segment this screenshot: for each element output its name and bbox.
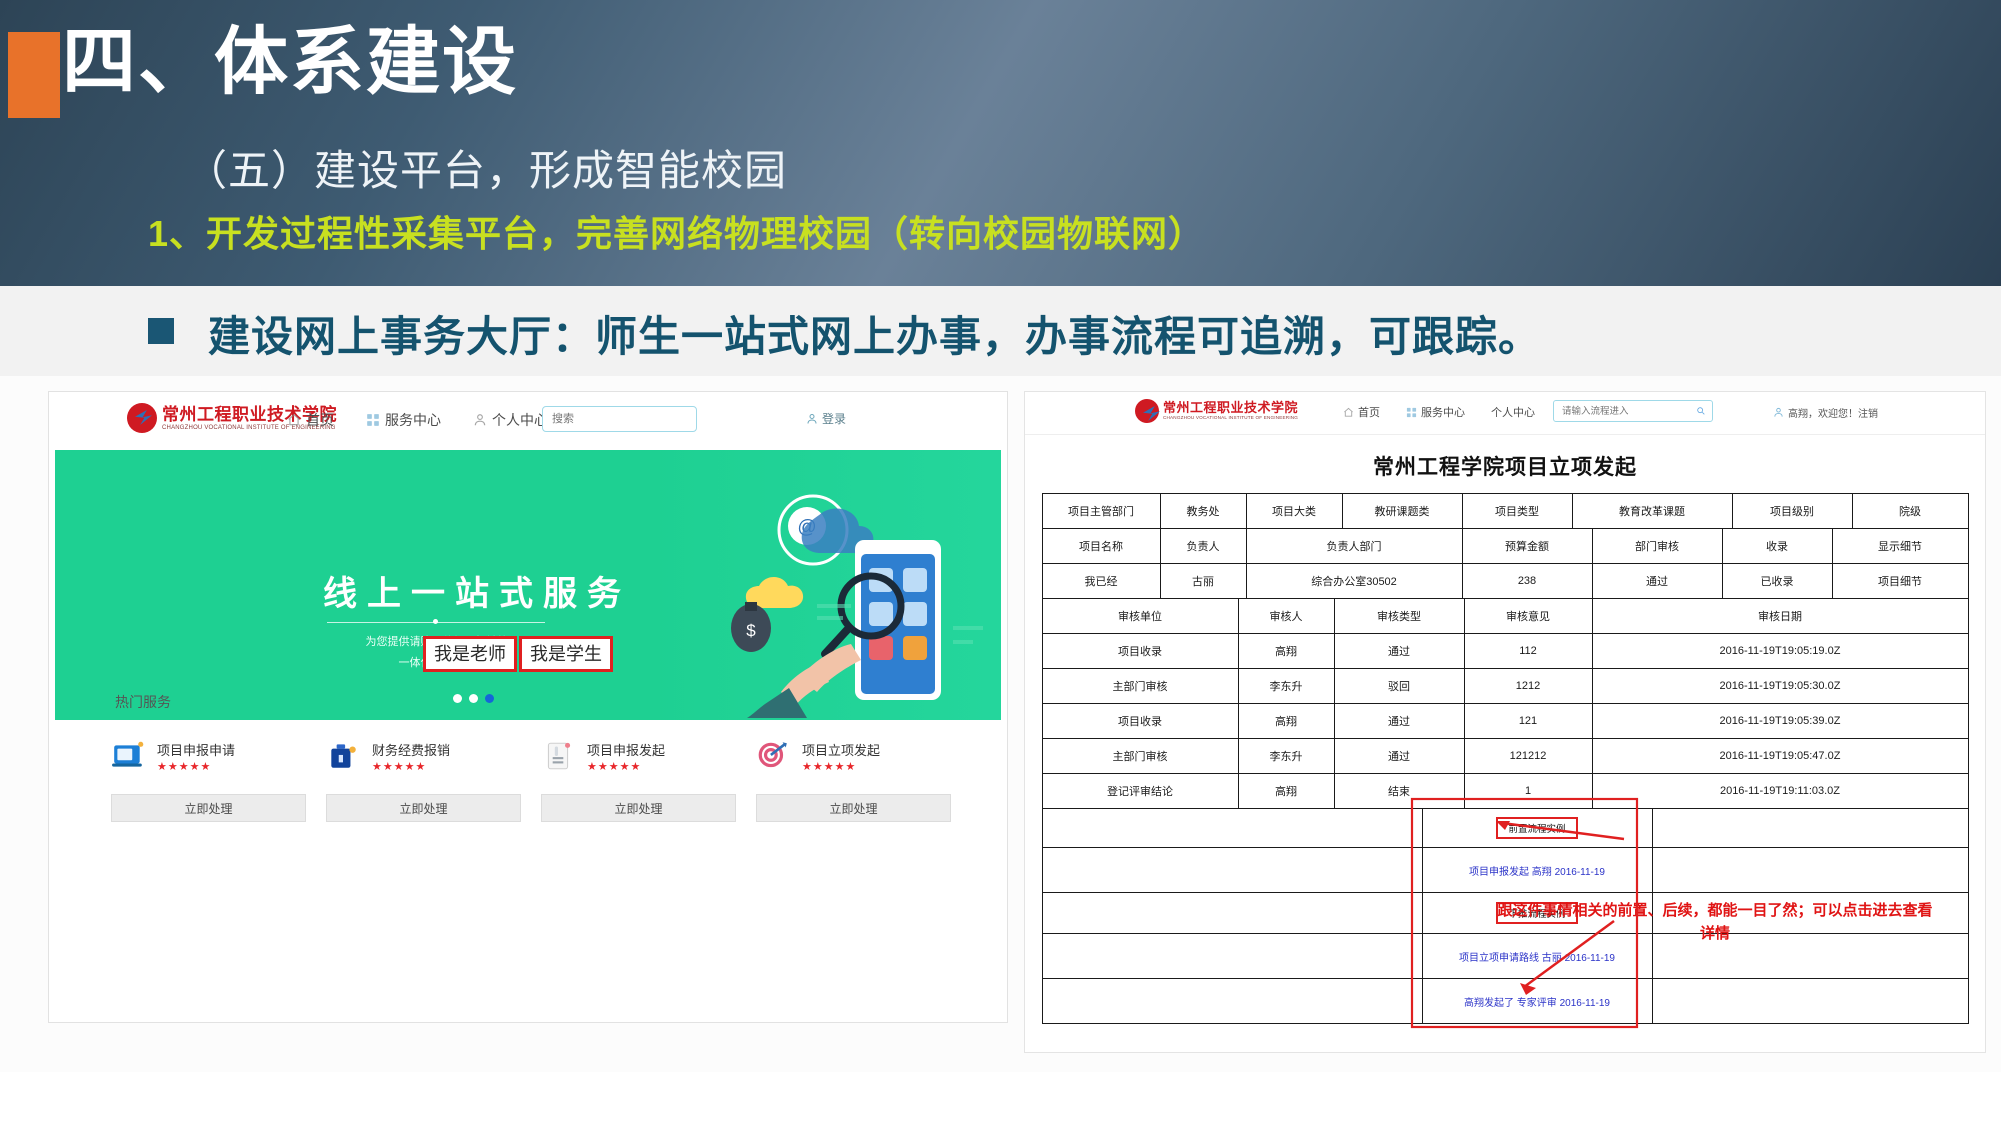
table-row: 审核单位 审核人 审核类型 审核意见 审核日期	[1042, 599, 1968, 634]
i-am-student-button[interactable]: 我是学生	[519, 636, 613, 672]
school-logo-icon	[1135, 399, 1159, 423]
detail-header: 项目名称	[1042, 529, 1160, 564]
next-process-link-2[interactable]: 高翔发起了 专家评审 2016-11-19	[1464, 998, 1610, 1009]
detail-header: 部门审核	[1592, 529, 1722, 564]
nav-item-personal-center[interactable]: 个人中心	[473, 410, 548, 430]
prev-process-cell: 前置流程实例	[1422, 809, 1652, 848]
audit-cell: 高翔	[1238, 704, 1334, 739]
service-rating: ★★★★★	[157, 762, 235, 773]
handle-now-button[interactable]: 立即处理	[326, 794, 521, 822]
hot-services-list: 项目申报申请 ★★★★★ 立即处理 财务经费报销 ★★	[101, 732, 961, 822]
detail-header: 负责人	[1160, 529, 1246, 564]
meta-cell: 教务处	[1160, 494, 1246, 529]
project-meta-table: 项目主管部门 教务处 项目大类 教研课题类 项目类型 教育改革课题 项目级别 院…	[1042, 493, 1969, 529]
briefcase-icon	[326, 739, 360, 773]
service-name: 项目立项发起	[802, 740, 880, 759]
nav-label: 服务中心	[1421, 404, 1465, 420]
user-icon	[1773, 407, 1784, 418]
grid-icon	[366, 413, 380, 427]
audit-cell: 主部门审核	[1042, 739, 1238, 774]
user-icon	[473, 413, 487, 427]
detail-header: 预算金额	[1462, 529, 1592, 564]
table-row: 项目收录 高翔 通过 112 2016-11-19T19:05:19.0Z	[1042, 634, 1968, 669]
audit-cell: 2016-11-19T19:11:03.0Z	[1592, 774, 1968, 809]
table-row: 项目名称 负责人 负责人部门 预算金额 部门审核 收录 显示细节	[1042, 529, 1968, 564]
audit-cell: 2016-11-19T19:05:47.0Z	[1592, 739, 1968, 774]
nav-label: 首页	[306, 410, 334, 430]
form-logo: 常州工程职业技术学院 CHANGZHOU VOCATIONAL INSTITUT…	[1135, 399, 1298, 423]
table-row: 我已经 古丽 综合办公室30502 238 通过 已收录 项目细节	[1042, 564, 1968, 599]
detail-value: 通过	[1592, 564, 1722, 599]
form-search-box[interactable]	[1553, 400, 1713, 422]
user-label: 高翔，欢迎您！注销	[1788, 405, 1878, 420]
login-label: 登录	[822, 410, 846, 427]
home-icon	[1343, 407, 1354, 418]
nav-item-service-center[interactable]: 服务中心	[1406, 404, 1465, 420]
meta-cell: 教研课题类	[1342, 494, 1462, 529]
slide: 四、体系建设 （五）建设平台，形成智能校园 1、开发过程性采集平台，完善网络物理…	[0, 0, 2001, 1126]
table-row: 高翔发起了 专家评审 2016-11-19	[1042, 979, 1968, 1024]
audit-cell: 2016-11-19T19:05:39.0Z	[1592, 704, 1968, 739]
hero-title: 线上一站式服务	[323, 566, 631, 615]
table-row: 项目主管部门 教务处 项目大类 教研课题类 项目类型 教育改革课题 项目级别 院…	[1042, 494, 1968, 529]
audit-cell: 项目收录	[1042, 634, 1238, 669]
logo-english-name: CHANGZHOU VOCATIONAL INSTITUTE OF ENGINE…	[1163, 416, 1298, 421]
nav-label: 个人中心	[492, 410, 548, 430]
next-process-link-cell[interactable]: 高翔发起了 专家评审 2016-11-19	[1422, 979, 1652, 1024]
table-row: 项目收录 高翔 通过 121 2016-11-19T19:05:39.0Z	[1042, 704, 1968, 739]
nav-item-service-center[interactable]: 服务中心	[366, 410, 441, 430]
table-row: 登记评审结论 高翔 结束 1 2016-11-19T19:11:03.0Z	[1042, 774, 1968, 809]
svg-text:$: $	[746, 621, 756, 640]
nav-item-personal-center[interactable]: 个人中心	[1491, 404, 1535, 420]
hero-carousel-dots[interactable]	[453, 694, 494, 703]
grid-icon	[1406, 407, 1417, 418]
nav-label: 个人中心	[1491, 404, 1535, 420]
audit-cell: 1212	[1464, 669, 1592, 704]
table-row: 前置流程实例	[1042, 809, 1968, 848]
process-search-input[interactable]	[1560, 405, 1696, 418]
service-card[interactable]: 财务经费报销 ★★★★★ 立即处理	[316, 732, 531, 822]
audit-header: 审核日期	[1592, 599, 1968, 634]
table-row: 主部门审核 李东升 通过 121212 2016-11-19T19:05:47.…	[1042, 739, 1968, 774]
detail-value: 我已经	[1042, 564, 1160, 599]
audit-table: 审核单位 审核人 审核类型 审核意见 审核日期 项目收录 高翔 通过 112 2…	[1042, 598, 1969, 809]
detail-header: 收录	[1722, 529, 1832, 564]
service-rating: ★★★★★	[587, 762, 665, 773]
portal-screenshot: 常州工程职业技术学院 CHANGZHOU VOCATIONAL INSTITUT…	[48, 391, 1008, 1023]
page-title: 四、体系建设	[62, 18, 518, 105]
service-card[interactable]: 项目申报申请 ★★★★★ 立即处理	[101, 732, 316, 822]
audit-cell: 通过	[1334, 704, 1464, 739]
section-subtitle: （五）建设平台，形成智能校园	[185, 137, 787, 198]
audit-cell: 通过	[1334, 634, 1464, 669]
audit-cell: 高翔	[1238, 774, 1334, 809]
carousel-dot-2[interactable]	[469, 694, 478, 703]
school-logo-icon	[127, 403, 157, 433]
handle-now-button[interactable]: 立即处理	[541, 794, 736, 822]
meta-cell: 项目大类	[1246, 494, 1342, 529]
search-icon[interactable]	[1696, 405, 1706, 417]
audit-cell: 高翔	[1238, 634, 1334, 669]
portal-navbar: 常州工程职业技术学院 CHANGZHOU VOCATIONAL INSTITUT…	[49, 392, 1007, 450]
audit-header: 审核人	[1238, 599, 1334, 634]
laptop-icon	[111, 739, 145, 773]
service-rating: ★★★★★	[802, 762, 880, 773]
audit-cell: 112	[1464, 634, 1592, 669]
accent-bar	[8, 32, 60, 118]
nav-label: 服务中心	[385, 410, 441, 430]
audit-cell: 2016-11-19T19:05:19.0Z	[1592, 634, 1968, 669]
audit-cell: 通过	[1334, 739, 1464, 774]
service-name: 财务经费报销	[372, 740, 450, 759]
bullet-square-icon	[148, 318, 174, 344]
annotation-text: 跟这件事情相关的前置、后续，都能一目了然；可以点击进去查看详情	[1495, 900, 1935, 945]
audit-cell: 结束	[1334, 774, 1464, 809]
detail-value: 已收录	[1722, 564, 1832, 599]
search-input[interactable]	[550, 412, 696, 426]
section-subtitle-highlight: 1、开发过程性采集平台，完善网络物理校园（转向校园物联网）	[148, 205, 1205, 257]
project-form-screenshot: 常州工程职业技术学院 CHANGZHOU VOCATIONAL INSTITUT…	[1024, 391, 1986, 1053]
hero-divider-dot-icon	[433, 619, 438, 624]
next-process-link-1[interactable]: 项目立项申请路线 古丽 2016-11-19	[1459, 953, 1615, 964]
audit-cell: 121212	[1464, 739, 1592, 774]
user-account-info[interactable]: 高翔，欢迎您！注销	[1773, 405, 1878, 420]
meta-cell: 项目级别	[1732, 494, 1852, 529]
meta-cell: 教育改革课题	[1572, 494, 1732, 529]
slide-header: 四、体系建设 （五）建设平台，形成智能校园 1、开发过程性采集平台，完善网络物理…	[0, 0, 2001, 286]
service-name: 项目申报申请	[157, 740, 235, 759]
form-navbar: 常州工程职业技术学院 CHANGZHOU VOCATIONAL INSTITUT…	[1025, 392, 1985, 435]
audit-cell: 驳回	[1334, 669, 1464, 704]
login-button[interactable]: 登录	[806, 410, 846, 427]
i-am-teacher-button[interactable]: 我是老师	[423, 636, 517, 672]
detail-value: 古丽	[1160, 564, 1246, 599]
form-menu: 首页 服务中心 个人中心	[1343, 404, 1535, 420]
audit-cell: 李东升	[1238, 669, 1334, 704]
project-detail-link[interactable]: 项目细节	[1832, 564, 1968, 599]
prev-process-link-cell[interactable]: 项目申报发起 高翔 2016-11-19	[1422, 848, 1652, 893]
service-name: 项目申报发起	[587, 740, 665, 759]
service-rating: ★★★★★	[372, 762, 450, 773]
role-selection: 我是老师 我是学生	[423, 636, 613, 672]
carousel-dot-1[interactable]	[453, 694, 462, 703]
table-row: 主部门审核 李东升 驳回 1212 2016-11-19T19:05:30.0Z	[1042, 669, 1968, 704]
audit-header: 审核意见	[1464, 599, 1592, 634]
prev-process-label: 前置流程实例	[1496, 817, 1577, 839]
detail-value: 综合办公室30502	[1246, 564, 1462, 599]
carousel-dot-3[interactable]	[485, 694, 494, 703]
audit-cell: 121	[1464, 704, 1592, 739]
meta-cell: 项目主管部门	[1042, 494, 1160, 529]
document-icon	[541, 739, 575, 773]
handle-now-button[interactable]: 立即处理	[756, 794, 951, 822]
handle-now-button[interactable]: 立即处理	[111, 794, 306, 822]
portal-search-box[interactable]	[542, 406, 697, 432]
form-title: 常州工程学院项目立项发起	[1025, 451, 1985, 481]
audit-cell: 主部门审核	[1042, 669, 1238, 704]
target-icon	[756, 739, 790, 773]
service-card[interactable]: 项目申报发起 ★★★★★ 立即处理	[531, 732, 746, 822]
prev-process-link[interactable]: 项目申报发起 高翔 2016-11-19	[1469, 867, 1605, 878]
audit-cell: 1	[1464, 774, 1592, 809]
nav-item-home[interactable]: 首页	[287, 410, 334, 430]
portal-menu: 首页 服务中心 个人中心	[287, 410, 548, 430]
portal-hero-banner: 线上一站式服务 为您提供请购、休假、报销等 一体化线上服务 @ $	[55, 450, 1001, 720]
service-card[interactable]: 项目立项发起 ★★★★★ 立即处理	[746, 732, 961, 822]
meta-cell: 项目类型	[1462, 494, 1572, 529]
logo-chinese-name: 常州工程职业技术学院	[1163, 401, 1298, 414]
meta-cell: 院级	[1852, 494, 1968, 529]
detail-header: 显示细节	[1832, 529, 1968, 564]
hot-services-title: 热门服务	[115, 692, 171, 712]
nav-label: 首页	[1358, 404, 1380, 420]
user-icon	[806, 413, 818, 425]
audit-cell: 2016-11-19T19:05:30.0Z	[1592, 669, 1968, 704]
audit-header: 审核类型	[1334, 599, 1464, 634]
hero-illustration: @ $	[695, 478, 995, 718]
bullet-text: 建设网上事务大厅：师生一站式网上办事，办事流程可追溯，可跟踪。	[208, 303, 1541, 364]
nav-item-home[interactable]: 首页	[1343, 404, 1380, 420]
home-icon	[287, 413, 301, 427]
audit-header: 审核单位	[1042, 599, 1238, 634]
project-detail-table: 项目名称 负责人 负责人部门 预算金额 部门审核 收录 显示细节 我已经 古丽 …	[1042, 528, 1969, 599]
detail-header: 负责人部门	[1246, 529, 1462, 564]
detail-value: 238	[1462, 564, 1592, 599]
table-row: 项目申报发起 高翔 2016-11-19	[1042, 848, 1968, 893]
audit-cell: 项目收录	[1042, 704, 1238, 739]
audit-cell: 李东升	[1238, 739, 1334, 774]
audit-cell: 登记评审结论	[1042, 774, 1238, 809]
